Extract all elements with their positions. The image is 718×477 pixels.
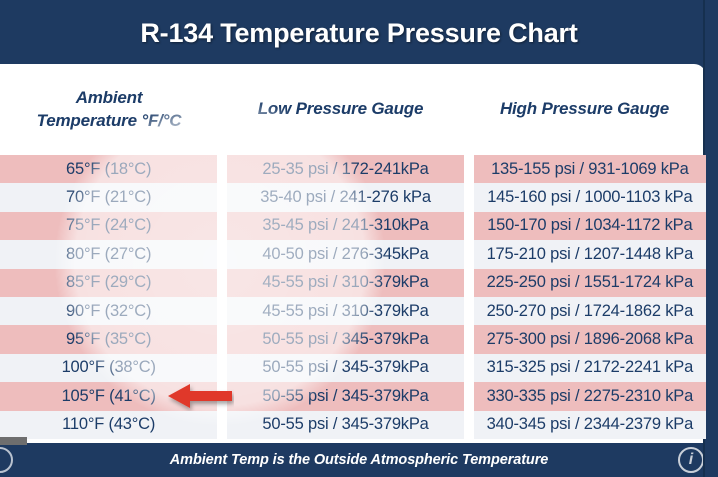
column-header-low-pressure-gauge: Low Pressure Gauge [218,64,463,155]
cell-ambient-temperature: 70°F (21°C) [0,183,217,211]
column-gap [217,269,227,297]
column-gap [464,212,474,240]
column-gap [464,297,474,325]
column-gap [464,183,474,211]
page-title: R-134 Temperature Pressure Chart [140,18,577,49]
column-gap [464,411,474,439]
cell-low-pressure: 50-55 psi / 345-379kPa [227,354,463,382]
cell-high-pressure: 275-300 psi / 1896-2068 kPa [474,325,706,353]
cell-ambient-temperature: 90°F (32°C) [0,297,217,325]
column-header-line2: Temperature °F/°C [37,111,182,130]
table-row: 70°F (21°C)35-40 psi / 241-276 kPa145-16… [0,183,706,211]
column-gap [217,411,227,439]
footer-bar: Ambient Temp is the Outside Atmospheric … [0,443,718,477]
column-gap [464,325,474,353]
table-body: 65°F (18°C)25-35 psi / 172-241kPa135-155… [0,155,706,439]
cell-low-pressure: 50-55 psi / 345-379kPa [227,382,463,410]
left-edge-tab [0,437,27,445]
cell-high-pressure: 225-250 psi / 1551-1724 kPa [474,269,706,297]
table-row: 110°F (43°C)50-55 psi / 345-379kPa340-34… [0,411,706,439]
column-header-ambient-temperature: Ambient Temperature °F/°C [0,64,218,155]
column-gap [464,269,474,297]
column-gap [464,382,474,410]
footer-note: Ambient Temp is the Outside Atmospheric … [170,452,548,468]
column-header-line1: Ambient [76,88,143,107]
table-row: 90°F (32°C)45-55 psi / 310-379kPa250-270… [0,297,706,325]
table-row: 100°F (38°C)50-55 psi / 345-379kPa315-32… [0,354,706,382]
cell-low-pressure: 35-40 psi / 241-276 kPa [227,183,463,211]
column-gap [464,240,474,268]
cell-ambient-temperature: 95°F (35°C) [0,325,217,353]
column-gap [217,325,227,353]
cell-high-pressure: 145-160 psi / 1000-1103 kPa [474,183,706,211]
cell-low-pressure: 45-55 psi / 310-379kPa [227,297,463,325]
column-gap [464,354,474,382]
column-gap [217,155,227,183]
column-header-high-pressure-gauge: High Pressure Gauge [463,64,706,155]
cell-high-pressure: 175-210 psi / 1207-1448 kPa [474,240,706,268]
title-bar: R-134 Temperature Pressure Chart [0,0,718,66]
info-icon[interactable]: i [678,447,704,473]
cell-high-pressure: 315-325 psi / 2172-2241 kPa [474,354,706,382]
column-gap [217,297,227,325]
cell-ambient-temperature: 100°F (38°C) [0,354,217,382]
table-row: 85°F (29°C)45-55 psi / 310-379kPa225-250… [0,269,706,297]
chart-screen: R-134 Temperature Pressure Chart Ambient… [0,0,718,477]
cell-ambient-temperature: 110°F (43°C) [0,411,217,439]
cell-high-pressure: 250-270 psi / 1724-1862 kPa [474,297,706,325]
cell-ambient-temperature: 85°F (29°C) [0,269,217,297]
cell-ambient-temperature: 65°F (18°C) [0,155,217,183]
red-arrow-annotation-icon [166,381,234,411]
cell-high-pressure: 150-170 psi / 1034-1172 kPa [474,212,706,240]
column-gap [217,212,227,240]
cell-high-pressure: 340-345 psi / 2344-2379 kPa [474,411,706,439]
cell-low-pressure: 50-55 psi / 345-379kPa [227,411,463,439]
table-row: 105°F (41°C)50-55 psi / 345-379kPa330-33… [0,382,706,410]
column-gap [217,183,227,211]
table-row: 95°F (35°C)50-55 psi / 345-379kPa275-300… [0,325,706,353]
table-row: 80°F (27°C)40-50 psi / 276-345kPa175-210… [0,240,706,268]
cell-ambient-temperature: 80°F (27°C) [0,240,217,268]
column-gap [217,354,227,382]
table-header-row: Ambient Temperature °F/°C Low Pressure G… [0,64,706,155]
cell-low-pressure: 45-55 psi / 310-379kPa [227,269,463,297]
column-gap [464,155,474,183]
table-row: 65°F (18°C)25-35 psi / 172-241kPa135-155… [0,155,706,183]
table-row: 75°F (24°C)35-45 psi / 241-310kPa150-170… [0,212,706,240]
cell-high-pressure: 135-155 psi / 931-1069 kPa [474,155,706,183]
cell-low-pressure: 40-50 psi / 276-345kPa [227,240,463,268]
cell-ambient-temperature: 75°F (24°C) [0,212,217,240]
column-gap [217,240,227,268]
table-card: Ambient Temperature °F/°C Low Pressure G… [0,64,706,443]
cell-low-pressure: 25-35 psi / 172-241kPa [227,155,463,183]
cell-high-pressure: 330-335 psi / 2275-2310 kPa [474,382,706,410]
cell-low-pressure: 35-45 psi / 241-310kPa [227,212,463,240]
cell-low-pressure: 50-55 psi / 345-379kPa [227,325,463,353]
